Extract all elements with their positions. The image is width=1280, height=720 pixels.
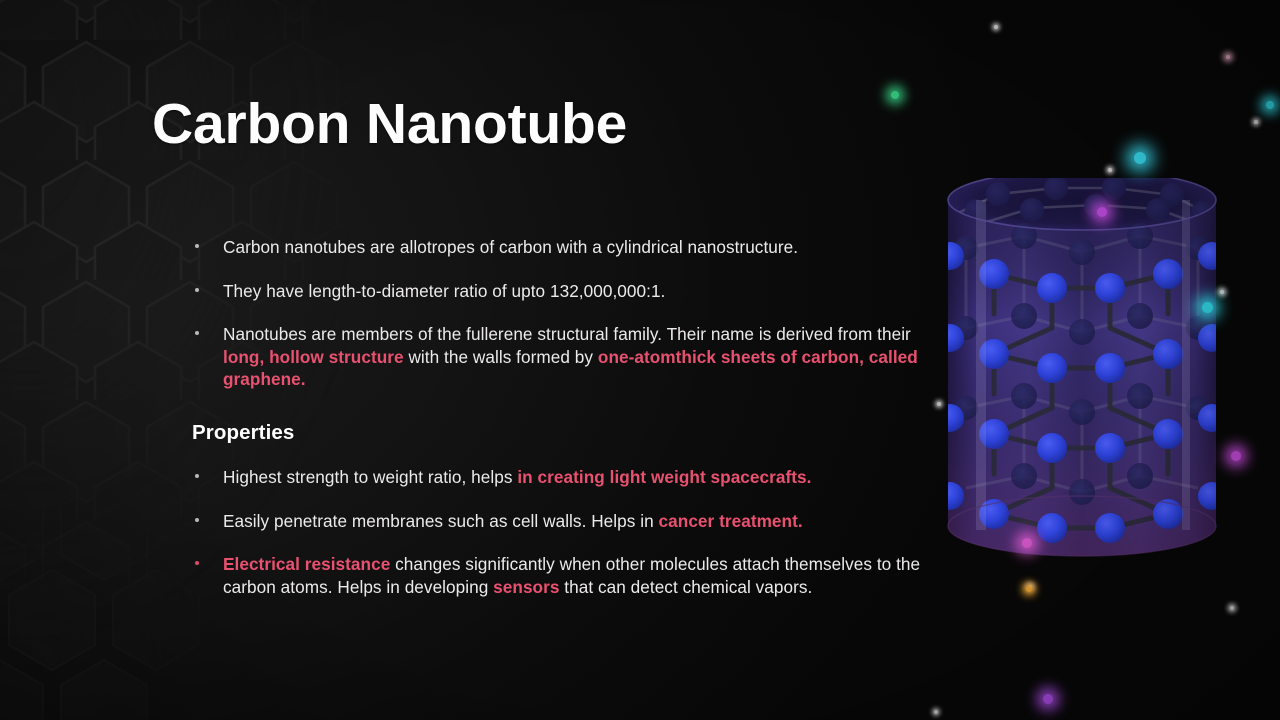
bullet-marker-icon	[195, 331, 199, 335]
accent-text-run: cancer treatment.	[659, 511, 803, 531]
text-run: Highest strength to weight ratio, helps	[223, 467, 517, 487]
accent-text-run: long, hollow structure	[223, 347, 404, 367]
text-run: Nanotubes are members of the fullerene s…	[223, 324, 911, 344]
intro-bullet-list: Carbon nanotubes are allotropes of carbo…	[192, 236, 952, 391]
accent-text-run: in creating light weight spacecrafts.	[517, 467, 811, 487]
accent-text-run: Electrical resistance	[223, 554, 390, 574]
bullet-strength: Highest strength to weight ratio, helps …	[192, 466, 952, 489]
bullet-marker-icon	[195, 244, 199, 248]
bullet-resistance: Electrical resistance changes significan…	[192, 553, 952, 598]
text-run: that can detect chemical vapors.	[559, 577, 812, 597]
text-run: They have length-to-diameter ratio of up…	[223, 281, 665, 301]
accent-text-run: sensors	[493, 577, 559, 597]
bullet-membranes: Easily penetrate membranes such as cell …	[192, 510, 952, 533]
text-run: with the walls formed by	[404, 347, 598, 367]
text-run: Easily penetrate membranes such as cell …	[223, 511, 659, 531]
bullet-allotropes: Carbon nanotubes are allotropes of carbo…	[192, 236, 952, 259]
slide-content: Carbon nanotubes are allotropes of carbo…	[192, 236, 952, 598]
bullet-fullerene: Nanotubes are members of the fullerene s…	[192, 323, 952, 391]
page-title: Carbon Nanotube	[152, 93, 627, 157]
bullet-marker-icon	[195, 474, 199, 478]
bullet-marker-icon	[195, 561, 199, 565]
properties-bullet-list: Highest strength to weight ratio, helps …	[192, 466, 952, 598]
slide-carbon-nanotube: Carbon Nanotube Carbon nanotubes are all…	[0, 0, 1280, 720]
bullet-marker-icon	[195, 288, 199, 292]
bullet-marker-icon	[195, 518, 199, 522]
properties-heading: Properties	[192, 421, 952, 445]
text-run: Carbon nanotubes are allotropes of carbo…	[223, 237, 798, 257]
bullet-ratio: They have length-to-diameter ratio of up…	[192, 280, 952, 303]
